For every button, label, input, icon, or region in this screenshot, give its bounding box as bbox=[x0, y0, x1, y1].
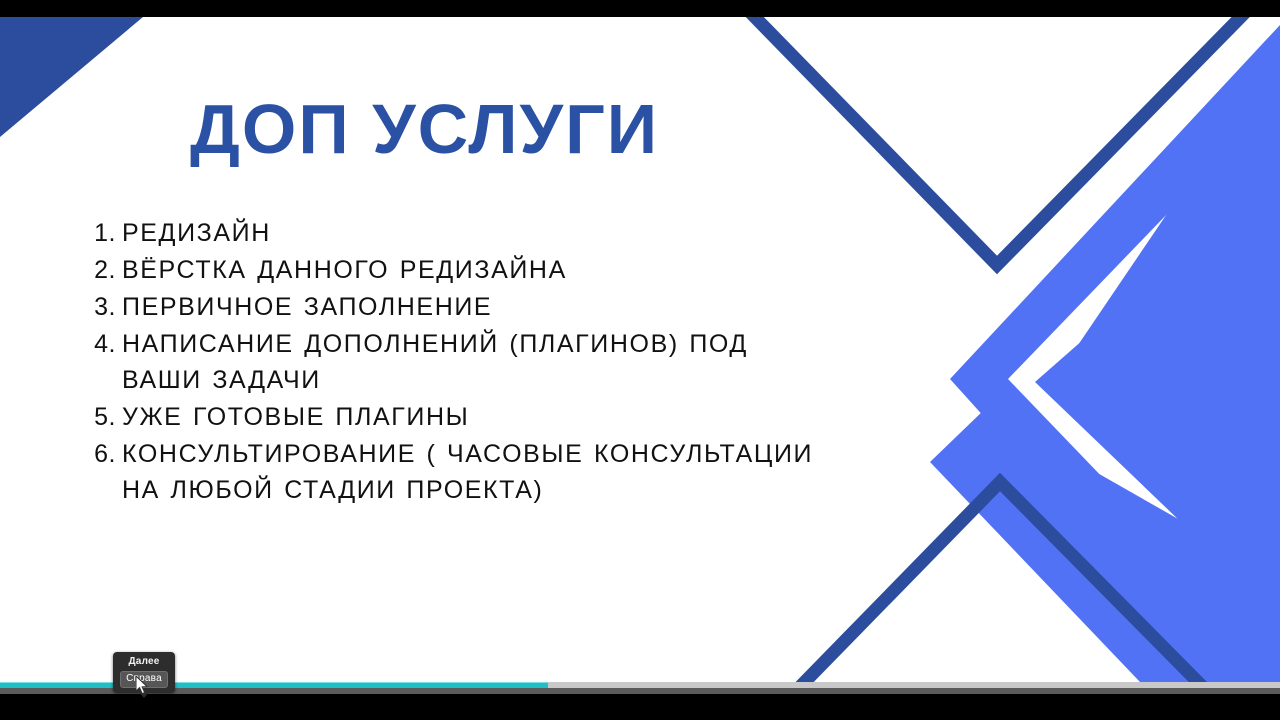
list-item-continuation: НА ЛЮБОЙ СТАДИИ ПРОЕКТА) bbox=[122, 472, 904, 508]
list-item-text: ПЕРВИЧНОЕ ЗАПОЛНЕНИЕ bbox=[116, 289, 904, 325]
list-item: 5. УЖЕ ГОТОВЫЕ ПЛАГИНЫ bbox=[84, 399, 904, 435]
list-item-number: 2. bbox=[84, 252, 116, 288]
list-item-number: 3. bbox=[84, 289, 116, 325]
services-list: 1. РЕДИЗАЙН 2. ВЁРСТКА ДАННОГО РЕДИЗАЙНА… bbox=[84, 215, 904, 509]
list-item-text: РЕДИЗАЙН bbox=[116, 215, 904, 251]
list-item-number: 5. bbox=[84, 399, 116, 435]
list-item: 6. КОНСУЛЬТИРОВАНИЕ ( ЧАСОВЫЕ КОНСУЛЬТАЦ… bbox=[84, 436, 904, 508]
letterbox-bottom bbox=[0, 694, 1280, 720]
video-player-screen: ДОП УСЛУГИ 1. РЕДИЗАЙН 2. ВЁРСТКА ДАННОГ… bbox=[0, 0, 1280, 720]
list-item-text: НАПИСАНИЕ ДОПОЛНЕНИЙ (ПЛАГИНОВ) ПОДВАШИ … bbox=[116, 326, 904, 398]
list-item: 1. РЕДИЗАЙН bbox=[84, 215, 904, 251]
list-item: 2. ВЁРСТКА ДАННОГО РЕДИЗАЙНА bbox=[84, 252, 904, 288]
list-item-text: КОНСУЛЬТИРОВАНИЕ ( ЧАСОВЫЕ КОНСУЛЬТАЦИИН… bbox=[116, 436, 904, 508]
list-item-continuation: ВАШИ ЗАДАЧИ bbox=[122, 362, 904, 398]
tooltip-title: Далее bbox=[117, 655, 171, 668]
list-item-text: УЖЕ ГОТОВЫЕ ПЛАГИНЫ bbox=[116, 399, 904, 435]
list-item: 4. НАПИСАНИЕ ДОПОЛНЕНИЙ (ПЛАГИНОВ) ПОДВА… bbox=[84, 326, 904, 398]
list-item-number: 4. bbox=[84, 326, 116, 362]
list-item: 3. ПЕРВИЧНОЕ ЗАПОЛНЕНИЕ bbox=[84, 289, 904, 325]
page-title: ДОП УСЛУГИ bbox=[190, 89, 659, 169]
letterbox-top bbox=[0, 0, 1280, 17]
mouse-cursor-icon bbox=[136, 676, 150, 701]
list-item-text: ВЁРСТКА ДАННОГО РЕДИЗАЙНА bbox=[116, 252, 904, 288]
list-item-number: 1. bbox=[84, 215, 116, 251]
list-item-number: 6. bbox=[84, 436, 116, 472]
corner-triangle-icon bbox=[0, 17, 143, 137]
presentation-slide: ДОП УСЛУГИ 1. РЕДИЗАЙН 2. ВЁРСТКА ДАННОГ… bbox=[0, 17, 1280, 682]
